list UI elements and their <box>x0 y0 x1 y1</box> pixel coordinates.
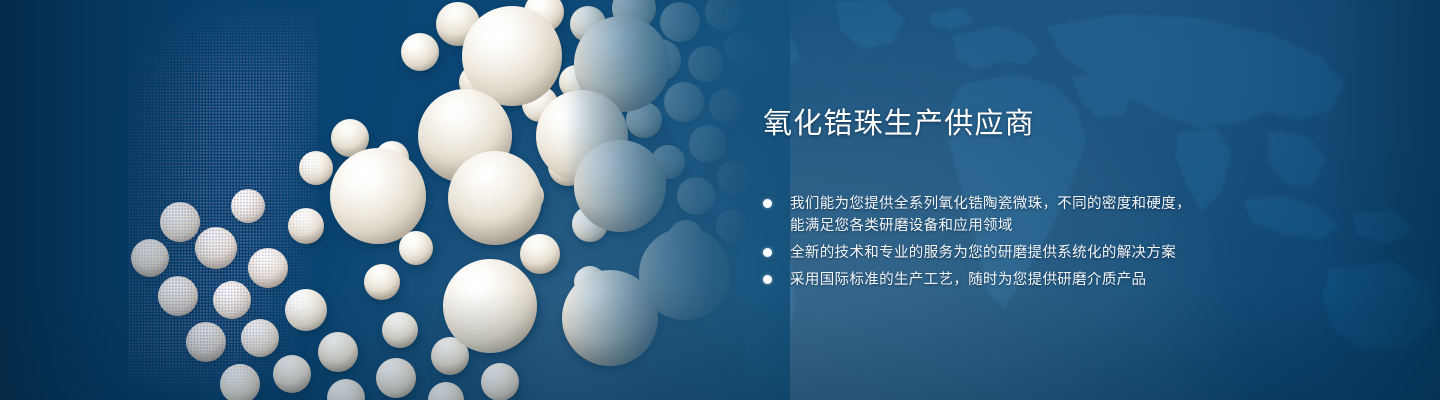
zirconia-beads-product-photo <box>120 0 760 400</box>
bullet-item-2: 全新的技术和专业的服务为您的研磨提供系统化的解决方案 <box>763 242 1283 264</box>
bullet-item-3: 采用国际标准的生产工艺，随时为您提供研磨介质产品 <box>763 269 1283 291</box>
bullet-item-1: 我们能为您提供全系列氧化锆陶瓷微珠，不同的密度和硬度， 能满足您各类研磨设备和应… <box>763 193 1283 237</box>
bullet-dot-icon <box>763 248 772 257</box>
bullet-line: 能满足您各类研磨设备和应用领域 <box>790 215 1283 237</box>
bullet-line: 全新的技术和专业的服务为您的研磨提供系统化的解决方案 <box>790 242 1283 264</box>
banner-bullet-list: 我们能为您提供全系列氧化锆陶瓷微珠，不同的密度和硬度， 能满足您各类研磨设备和应… <box>763 193 1283 291</box>
bullet-dot-icon <box>763 199 772 208</box>
bullet-line: 我们能为您提供全系列氧化锆陶瓷微珠，不同的密度和硬度， <box>790 193 1283 215</box>
hero-banner: 氧化锆珠生产供应商 我们能为您提供全系列氧化锆陶瓷微珠，不同的密度和硬度， 能满… <box>0 0 1440 400</box>
bullet-line: 采用国际标准的生产工艺，随时为您提供研磨介质产品 <box>790 269 1283 291</box>
bullet-dot-icon <box>763 275 772 284</box>
banner-headline: 氧化锆珠生产供应商 <box>763 104 1283 144</box>
banner-copy: 氧化锆珠生产供应商 我们能为您提供全系列氧化锆陶瓷微珠，不同的密度和硬度， 能满… <box>763 104 1283 291</box>
